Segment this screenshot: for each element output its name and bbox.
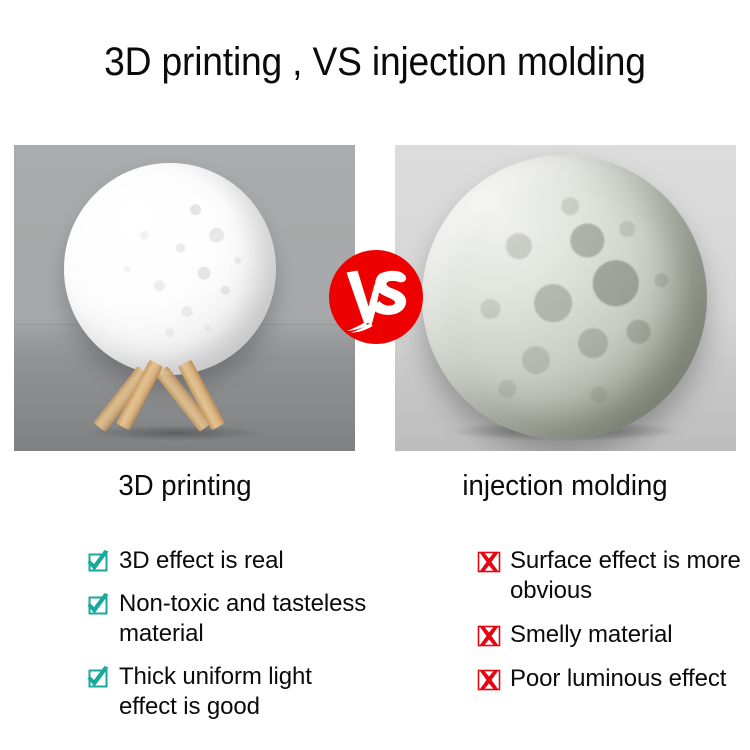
page-title: 3D printing , VS injection molding: [26, 38, 724, 86]
feature-item: Poor luminous effect: [476, 664, 750, 694]
cross-icon: [476, 549, 502, 575]
moon-lamp-white-sphere: [64, 163, 276, 375]
photo-3d-printing: [14, 145, 355, 451]
check-icon: [85, 665, 111, 691]
feature-text: Thick uniform light effect is good: [119, 662, 375, 722]
feature-list-injection-molding: Surface effect is more obvious Smelly ma…: [476, 546, 750, 708]
check-icon: [85, 592, 111, 618]
feature-item: Smelly material: [476, 620, 750, 650]
caption-3d-printing: 3D printing: [9, 468, 361, 504]
cross-icon: [476, 667, 502, 693]
feature-text: Surface effect is more obvious: [510, 546, 750, 606]
feature-item: Non-toxic and tasteless material: [85, 589, 375, 649]
feature-item: Thick uniform light effect is good: [85, 662, 375, 722]
feature-lists: 3D effect is real Non-toxic and tasteles…: [0, 546, 750, 746]
vs-badge: [328, 249, 424, 345]
molded-grey-sphere: [422, 155, 707, 440]
feature-text: Smelly material: [510, 620, 673, 650]
cross-icon: [476, 623, 502, 649]
feature-text: Non-toxic and tasteless material: [119, 589, 375, 649]
wooden-stand: [102, 359, 242, 429]
sphere-shading: [64, 163, 276, 375]
feature-text: Poor luminous effect: [510, 664, 726, 694]
feature-item: Surface effect is more obvious: [476, 546, 750, 606]
feature-item: 3D effect is real: [85, 546, 375, 576]
feature-text: 3D effect is real: [119, 546, 284, 576]
comparison-panels: [0, 145, 750, 451]
check-icon: [85, 549, 111, 575]
caption-injection-molding: injection molding: [389, 468, 741, 504]
photo-injection-molding: [395, 145, 736, 451]
feature-list-3d-printing: 3D effect is real Non-toxic and tasteles…: [85, 546, 375, 735]
sphere-shading: [422, 155, 707, 440]
